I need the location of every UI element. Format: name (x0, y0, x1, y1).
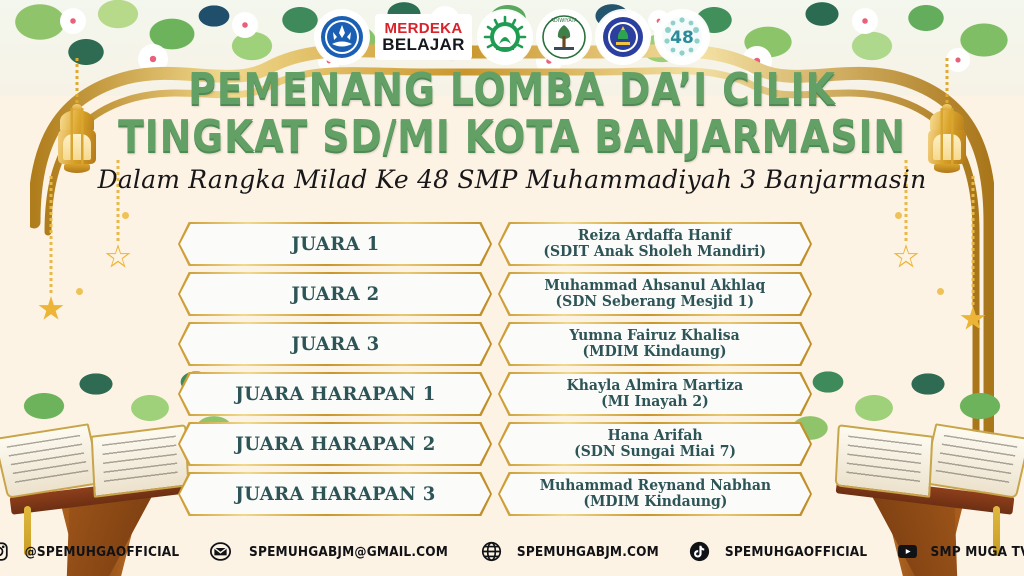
winner-school: (SDN Seberang Mesjid 1) (545, 294, 766, 310)
rank-label: JUARA HARAPAN 1 (235, 383, 435, 405)
contact-email-label: SPEMUHGABJM@GMAIL.COM (249, 544, 448, 560)
winner-row: JUARA HARAPAN 2 Hana Arifah (SDN Sungai … (178, 422, 846, 466)
winner-school: (SDIT Anak Sholeh Mandiri) (544, 244, 767, 260)
svg-text:48: 48 (670, 28, 694, 48)
winner-badge: Yumna Fairuz Khalisa (MDIM Kindaung) (498, 322, 812, 366)
rank-badge: JUARA HARAPAN 1 (178, 372, 492, 416)
winner-school: (MDIM Kindaung) (570, 344, 740, 360)
muhammadiyah-logo (479, 11, 531, 63)
adiwiyata-logo: ADIWIYATA (538, 11, 590, 63)
rank-label: JUARA HARAPAN 2 (235, 433, 435, 455)
merdeka-belajar-logo: MERDEKA BELAJAR (375, 14, 471, 60)
logo-strip: MERDEKA BELAJAR (0, 9, 1024, 65)
contact-tiktok[interactable]: SPEMUHGAOFFICIAL (689, 541, 875, 562)
svg-text:ADIWIYATA: ADIWIYATA (550, 18, 578, 24)
rank-label: JUARA HARAPAN 3 (235, 483, 435, 505)
rank-badge: JUARA 3 (178, 322, 492, 366)
contact-tiktok-label: SPEMUHGAOFFICIAL (725, 544, 867, 560)
winner-list: JUARA 1 Reiza Ardaffa Hanif (SDIT Anak S… (0, 222, 1024, 516)
instagram-icon (0, 541, 9, 562)
contact-website-label: SPEMUHGABJM.COM (517, 544, 659, 560)
merdeka-line1: MERDEKA (385, 21, 463, 36)
contact-instagram-label: @SPEMUHGAOFFICIAL (25, 544, 180, 560)
poster-canvas: MERDEKA BELAJAR (0, 0, 1024, 576)
contact-youtube[interactable]: SMP MUGA TV (897, 541, 1024, 562)
contact-footer: @SPEMUHGAOFFICIAL SPEMUHGABJM@GMAIL.COM (0, 541, 1024, 562)
contact-instagram[interactable]: @SPEMUHGAOFFICIAL (0, 541, 188, 562)
winner-school: (SDN Sungai Miai 7) (574, 444, 736, 460)
email-icon (210, 541, 231, 562)
rank-badge: JUARA 2 (178, 272, 492, 316)
rank-badge: JUARA 1 (178, 222, 492, 266)
title-line-2: TINGKAT SD/MI KOTA BANJARMASIN (72, 115, 953, 158)
rank-label: JUARA 2 (291, 283, 379, 305)
globe-icon (481, 541, 502, 562)
winner-row: JUARA HARAPAN 1 Khayla Almira Martiza (M… (178, 372, 846, 416)
winner-badge: Muhammad Reynand Nabhan (MDIM Kindaung) (498, 472, 812, 516)
deco-dot (895, 212, 902, 219)
kemdikbud-logo (316, 11, 368, 63)
winner-row: JUARA 1 Reiza Ardaffa Hanif (SDIT Anak S… (178, 222, 846, 266)
winner-badge: Muhammad Ahsanul Akhlaq (SDN Seberang Me… (498, 272, 812, 316)
winner-row: JUARA HARAPAN 3 Muhammad Reynand Nabhan … (178, 472, 846, 516)
rank-label: JUARA 3 (291, 333, 379, 355)
subtitle: Dalam Rangka Milad Ke 48 SMP Muhammadiya… (0, 165, 1024, 194)
title-line-1: PEMENANG LOMBA DA’I CILIK (72, 68, 953, 111)
contact-website[interactable]: SPEMUHGABJM.COM (481, 541, 667, 562)
winner-badge: Khayla Almira Martiza (MI Inayah 2) (498, 372, 812, 416)
school-logo (597, 11, 649, 63)
winner-badge: Hana Arifah (SDN Sungai Miai 7) (498, 422, 812, 466)
winner-row: JUARA 3 Yumna Fairuz Khalisa (MDIM Kinda… (178, 322, 846, 366)
merdeka-line2: BELAJAR (382, 36, 464, 53)
heading-block: PEMENANG LOMBA DA’I CILIK TINGKAT SD/MI … (0, 68, 1024, 194)
contact-youtube-label: SMP MUGA TV (931, 544, 1024, 560)
rank-badge: JUARA HARAPAN 3 (178, 472, 492, 516)
rank-label: JUARA 1 (291, 233, 379, 255)
deco-dot (122, 212, 129, 219)
winner-row: JUARA 2 Muhammad Ahsanul Akhlaq (SDN Seb… (178, 272, 846, 316)
tiktok-icon (689, 541, 710, 562)
winner-school: (MI Inayah 2) (567, 394, 744, 410)
winner-school: (MDIM Kindaung) (539, 494, 770, 510)
winner-badge: Reiza Ardaffa Hanif (SDIT Anak Sholeh Ma… (498, 222, 812, 266)
milad-48-logo: 48 (656, 11, 708, 63)
contact-email[interactable]: SPEMUHGABJM@GMAIL.COM (210, 541, 459, 562)
youtube-icon (897, 541, 918, 562)
rank-badge: JUARA HARAPAN 2 (178, 422, 492, 466)
